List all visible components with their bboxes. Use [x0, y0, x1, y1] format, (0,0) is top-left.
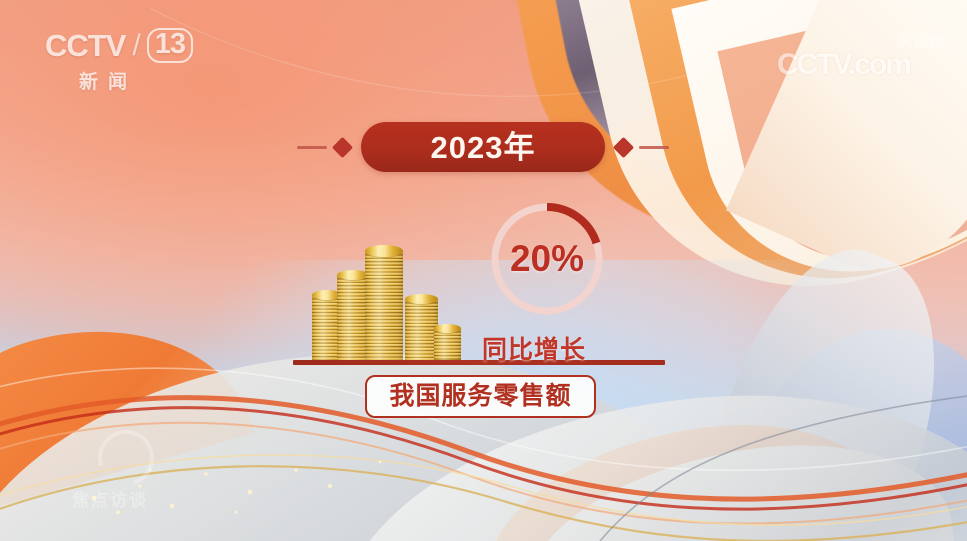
growth-label: 同比增长: [482, 330, 586, 366]
cctv-channel-name: 新闻: [79, 67, 205, 94]
year-label: 2023年: [431, 132, 536, 163]
year-pill: 2023年: [361, 122, 605, 172]
coin-stack: [434, 324, 461, 362]
year-banner-left-decoration: [297, 140, 350, 155]
coin-stack-top-coin: [434, 324, 461, 333]
metric-subject-box: 我国服务零售额: [365, 375, 596, 418]
year-banner-right-decoration: [616, 140, 669, 155]
percent-donut-chart: 20%: [487, 199, 607, 319]
cctv-wordmark: CCTV: [45, 30, 125, 61]
coin-stack-top-coin: [365, 245, 403, 257]
program-watermark: 焦点访谈: [72, 430, 212, 510]
diamond-icon: [613, 136, 634, 157]
cctv-channel-number: 13: [147, 28, 193, 63]
infographic-stage: CCTV / 13 新闻 CCTV.com 央视网 焦点访谈 2023年: [0, 0, 967, 541]
year-banner: 2023年: [293, 120, 673, 174]
dash-icon: [297, 146, 327, 149]
cctv-com-prefix: CCTV: [777, 48, 848, 81]
metric-subject-label: 我国服务零售额: [389, 384, 571, 409]
cctv-logo-slash: /: [132, 31, 139, 61]
cctv13-logo-row: CCTV / 13: [45, 28, 205, 63]
coin-stack-body: [434, 328, 461, 362]
program-watermark-label: 焦点访谈: [72, 486, 148, 511]
cctv13-logo: CCTV / 13 新闻: [45, 28, 205, 94]
cctv-com-suffix: .com: [848, 48, 910, 81]
cctv-com-watermark: CCTV.com 央视网: [777, 32, 947, 84]
coin-stack-body: [365, 251, 403, 362]
diamond-icon: [332, 136, 353, 157]
coin-stack: [365, 245, 403, 362]
coin-stack-top-coin: [405, 294, 438, 304]
cctv-com-chinese: 央视网: [897, 30, 945, 51]
cctv-com-wordmark: CCTV.com: [777, 48, 910, 82]
chart-baseline: [293, 360, 665, 365]
coin-stack-illustration: [306, 243, 466, 362]
percent-value: 20%: [487, 199, 607, 319]
dash-icon: [639, 146, 669, 149]
program-watermark-ring-icon: [88, 420, 164, 496]
